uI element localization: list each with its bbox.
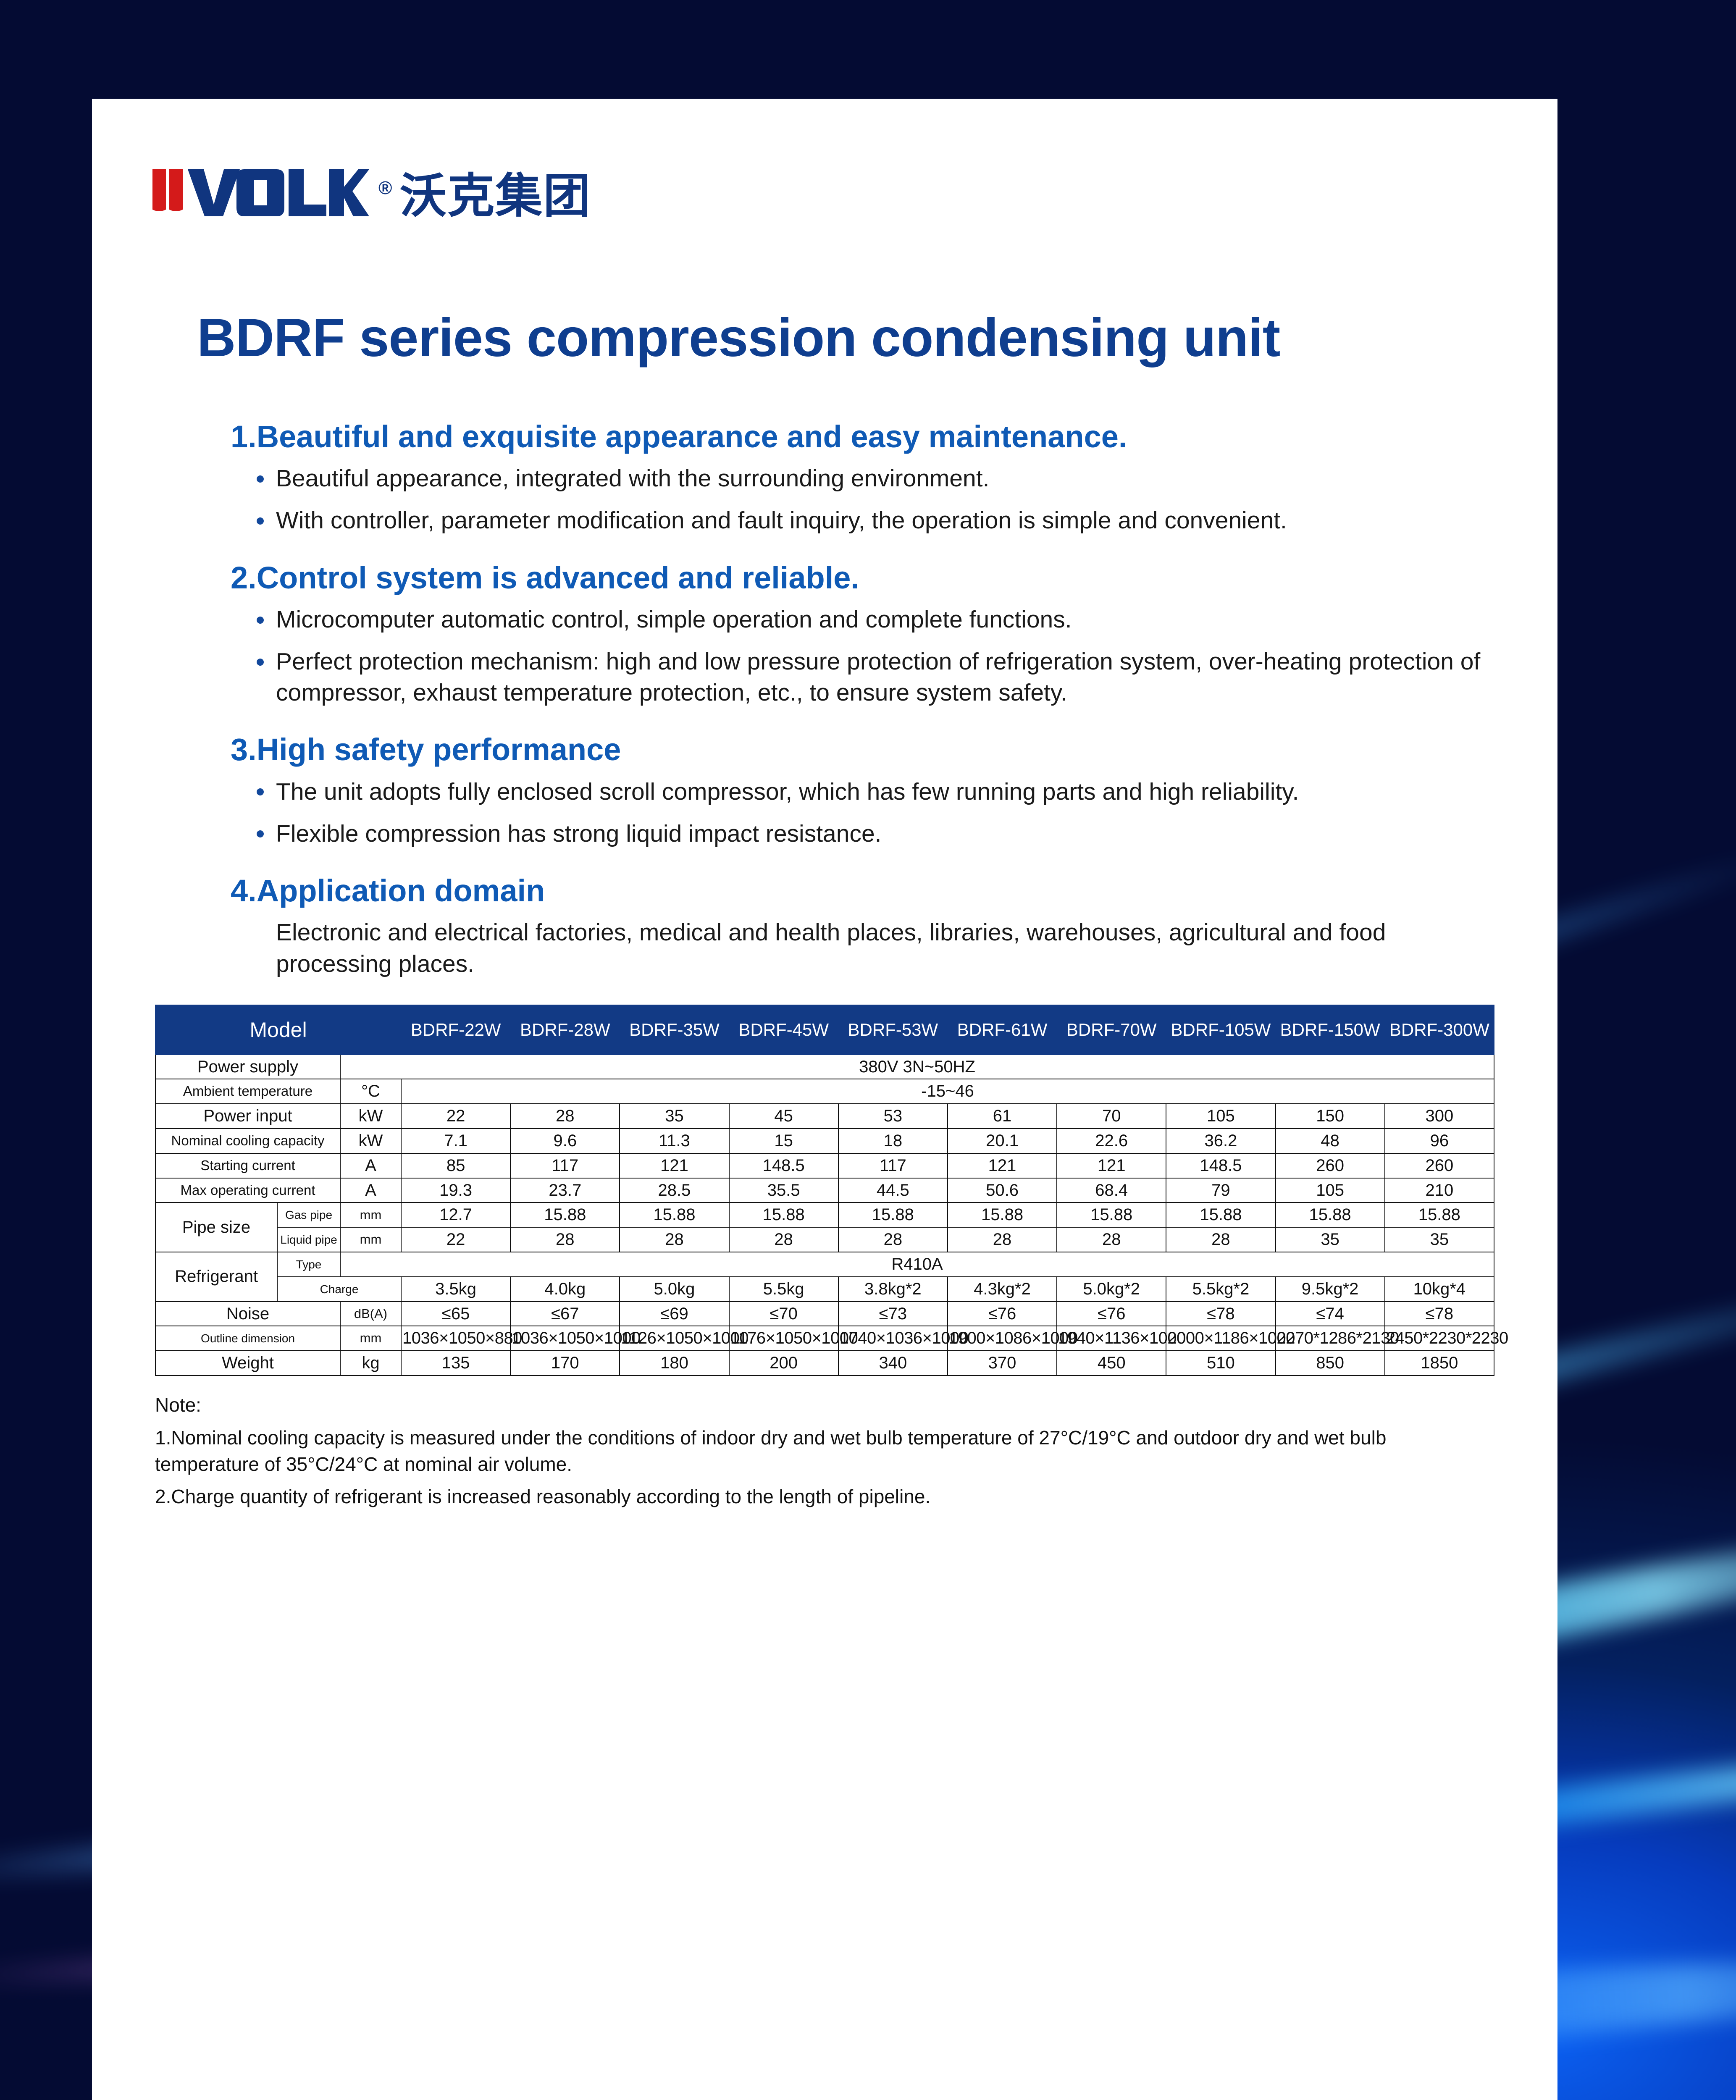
row-label: Max operating current bbox=[155, 1178, 340, 1203]
cell: 210 bbox=[1385, 1178, 1494, 1203]
cell: 48 bbox=[1276, 1129, 1385, 1153]
table-row-outline-dimension: Outline dimension mm 1036×1050×880 1036×… bbox=[155, 1326, 1494, 1351]
note-item: 2.Charge quantity of refrigerant is incr… bbox=[155, 1483, 1494, 1510]
cell: 36.2 bbox=[1166, 1129, 1275, 1153]
row-label: Noise bbox=[155, 1302, 340, 1326]
bullet-text: The unit adopts fully enclosed scroll co… bbox=[276, 778, 1299, 805]
cell: 10kg*4 bbox=[1385, 1277, 1494, 1302]
table-row-refrigerant-charge: Charge 3.5kg 4.0kg 5.0kg 5.5kg 3.8kg*2 4… bbox=[155, 1277, 1494, 1302]
bullet-text: Microcomputer automatic control, simple … bbox=[276, 606, 1072, 633]
row-group-label-refrigerant: Refrigerant bbox=[155, 1252, 277, 1302]
cell: 18 bbox=[838, 1129, 948, 1153]
cell: 28 bbox=[510, 1104, 620, 1129]
cell: 15.88 bbox=[729, 1202, 838, 1227]
section-heading: 3.High safety performance bbox=[231, 732, 1490, 766]
bullet-dot-icon bbox=[257, 475, 264, 483]
cell: 28 bbox=[838, 1227, 948, 1252]
cell: 1940×1136×1000 bbox=[1057, 1326, 1166, 1351]
cell: ≤65 bbox=[401, 1302, 510, 1326]
row-unit: kW bbox=[340, 1104, 401, 1129]
header-model-7: BDRF-105W bbox=[1166, 1005, 1275, 1055]
cell: 15.88 bbox=[510, 1202, 620, 1227]
row-unit: mm bbox=[340, 1202, 401, 1227]
row-unit: mm bbox=[340, 1227, 401, 1252]
page-title: BDRF series compression condensing unit bbox=[92, 311, 1557, 365]
row-label: Ambient temperature bbox=[155, 1079, 340, 1104]
cell: 11.3 bbox=[620, 1129, 729, 1153]
cell: ≤73 bbox=[838, 1302, 948, 1326]
cell: 96 bbox=[1385, 1129, 1494, 1153]
row-label: Type bbox=[277, 1252, 340, 1277]
bullet-text: With controller, parameter modification … bbox=[276, 507, 1287, 534]
bullet-dot-icon bbox=[257, 830, 264, 837]
document-page: ® 沃克集团 BDRF series compression condensin… bbox=[92, 99, 1557, 2100]
cell: 260 bbox=[1385, 1153, 1494, 1178]
table-header-row: Model BDRF-22W BDRF-28W BDRF-35W BDRF-45… bbox=[155, 1005, 1494, 1055]
volks-wordmark-icon bbox=[151, 166, 369, 220]
cell: 117 bbox=[838, 1153, 948, 1178]
cell: 61 bbox=[948, 1104, 1057, 1129]
cell: 22.6 bbox=[1057, 1129, 1166, 1153]
cell: ≤76 bbox=[1057, 1302, 1166, 1326]
cell: 370 bbox=[948, 1351, 1057, 1375]
cell: 5.5kg bbox=[729, 1277, 838, 1302]
cell: 50.6 bbox=[948, 1178, 1057, 1203]
cell: 35.5 bbox=[729, 1178, 838, 1203]
cell: ≤70 bbox=[729, 1302, 838, 1326]
cell: 9.6 bbox=[510, 1129, 620, 1153]
row-value: -15~46 bbox=[401, 1079, 1494, 1104]
section-heading: 2.Control system is advanced and reliabl… bbox=[231, 561, 1490, 595]
cell: 44.5 bbox=[838, 1178, 948, 1203]
section-appearance: 1.Beautiful and exquisite appearance and… bbox=[231, 420, 1490, 536]
table-row-nominal-cooling-capacity: Nominal cooling capacity kW 7.1 9.6 11.3… bbox=[155, 1129, 1494, 1153]
cell: 79 bbox=[1166, 1178, 1275, 1203]
row-unit: °C bbox=[340, 1079, 401, 1104]
cell: 105 bbox=[1276, 1178, 1385, 1203]
cell: 28 bbox=[510, 1227, 620, 1252]
cell: 28 bbox=[1057, 1227, 1166, 1252]
cell: 70 bbox=[1057, 1104, 1166, 1129]
cell: 1900×1086×1000 bbox=[948, 1326, 1057, 1351]
cell: ≤69 bbox=[620, 1302, 729, 1326]
row-label: Weight bbox=[155, 1351, 340, 1375]
header-model-3: BDRF-45W bbox=[729, 1005, 838, 1055]
cell: 4.3kg*2 bbox=[948, 1277, 1057, 1302]
cell: 2450*2230*2230 bbox=[1385, 1326, 1494, 1351]
section-application-domain: 4.Application domain Electronic and elec… bbox=[231, 874, 1490, 980]
row-label: Charge bbox=[277, 1277, 401, 1302]
table-row-refrigerant-type: Refrigerant Type R410A bbox=[155, 1252, 1494, 1277]
cell: 28 bbox=[729, 1227, 838, 1252]
cell: 3.8kg*2 bbox=[838, 1277, 948, 1302]
brand-header: ® 沃克集团 bbox=[92, 99, 1557, 220]
cell: 15.88 bbox=[948, 1202, 1057, 1227]
table-row-max-operating-current: Max operating current A 19.3 23.7 28.5 3… bbox=[155, 1178, 1494, 1203]
bullet-dot-icon bbox=[257, 517, 264, 525]
cell: 23.7 bbox=[510, 1178, 620, 1203]
cell: 3.5kg bbox=[401, 1277, 510, 1302]
cell: 28.5 bbox=[620, 1178, 729, 1203]
section-control-system: 2.Control system is advanced and reliabl… bbox=[231, 561, 1490, 709]
header-model-2: BDRF-35W bbox=[620, 1005, 729, 1055]
table-row-weight: Weight kg 135 170 180 200 340 370 450 51… bbox=[155, 1351, 1494, 1375]
list-item: Flexible compression has strong liquid i… bbox=[257, 818, 1490, 849]
list-item: The unit adopts fully enclosed scroll co… bbox=[257, 776, 1490, 807]
cell: 4.0kg bbox=[510, 1277, 620, 1302]
feature-sections: 1.Beautiful and exquisite appearance and… bbox=[92, 420, 1557, 980]
row-unit: A bbox=[340, 1178, 401, 1203]
cell: 150 bbox=[1276, 1104, 1385, 1129]
cell: 117 bbox=[510, 1153, 620, 1178]
table-row-noise: Noise dB(A) ≤65 ≤67 ≤69 ≤70 ≤73 ≤76 ≤76 … bbox=[155, 1302, 1494, 1326]
row-unit: kg bbox=[340, 1351, 401, 1375]
cell: 85 bbox=[401, 1153, 510, 1178]
cell: 1036×1050×880 bbox=[401, 1326, 510, 1351]
list-item: Beautiful appearance, integrated with th… bbox=[257, 463, 1490, 494]
cell: 15.88 bbox=[1166, 1202, 1275, 1227]
list-item: Microcomputer automatic control, simple … bbox=[257, 604, 1490, 635]
specification-table-wrapper: Model BDRF-22W BDRF-28W BDRF-35W BDRF-45… bbox=[92, 1005, 1557, 1376]
cell: 22 bbox=[401, 1227, 510, 1252]
row-label: Liquid pipe bbox=[277, 1227, 340, 1252]
cell: 22 bbox=[401, 1104, 510, 1129]
cell: 450 bbox=[1057, 1351, 1166, 1375]
cell: 2270*1286*2130 bbox=[1276, 1326, 1385, 1351]
cell: 15.88 bbox=[620, 1202, 729, 1227]
cell: 121 bbox=[1057, 1153, 1166, 1178]
bullet-list: Microcomputer automatic control, simple … bbox=[231, 604, 1490, 708]
row-label: Outline dimension bbox=[155, 1326, 340, 1351]
cell: 15.88 bbox=[1385, 1202, 1494, 1227]
cell: 1126×1050×1000 bbox=[620, 1326, 729, 1351]
cell: 15.88 bbox=[1057, 1202, 1166, 1227]
list-item: With controller, parameter modification … bbox=[257, 505, 1490, 536]
row-unit: A bbox=[340, 1153, 401, 1178]
cell: 5.5kg*2 bbox=[1166, 1277, 1275, 1302]
row-unit: kW bbox=[340, 1129, 401, 1153]
table-row-starting-current: Starting current A 85 117 121 148.5 117 … bbox=[155, 1153, 1494, 1178]
table-row-gas-pipe: Pipe size Gas pipe mm 12.7 15.88 15.88 1… bbox=[155, 1202, 1494, 1227]
row-label: Power supply bbox=[155, 1055, 340, 1079]
notes-block: Note: 1.Nominal cooling capacity is meas… bbox=[92, 1392, 1557, 1510]
header-model-8: BDRF-150W bbox=[1276, 1005, 1385, 1055]
cell: 1740×1036×1000 bbox=[838, 1326, 948, 1351]
bullet-text: Beautiful appearance, integrated with th… bbox=[276, 465, 989, 492]
header-model-9: BDRF-300W bbox=[1385, 1005, 1494, 1055]
row-unit: mm bbox=[340, 1326, 401, 1351]
section-safety: 3.High safety performance The unit adopt… bbox=[231, 732, 1490, 849]
header-model-4: BDRF-53W bbox=[838, 1005, 948, 1055]
cell: 135 bbox=[401, 1351, 510, 1375]
section-heading: 4.Application domain bbox=[231, 874, 1490, 908]
cell: 121 bbox=[620, 1153, 729, 1178]
cell: 53 bbox=[838, 1104, 948, 1129]
row-value: 380V 3N~50HZ bbox=[340, 1055, 1494, 1079]
cell: 15.88 bbox=[1276, 1202, 1385, 1227]
table-row-power-supply: Power supply 380V 3N~50HZ bbox=[155, 1055, 1494, 1079]
cell: ≤76 bbox=[948, 1302, 1057, 1326]
cell: 340 bbox=[838, 1351, 948, 1375]
cell: 300 bbox=[1385, 1104, 1494, 1129]
company-logo: ® 沃克集团 bbox=[151, 166, 1557, 220]
registered-trademark-icon: ® bbox=[378, 178, 392, 199]
logo-chinese-text: 沃克集团 bbox=[399, 173, 591, 220]
bullet-dot-icon bbox=[257, 617, 264, 624]
cell: ≤78 bbox=[1166, 1302, 1275, 1326]
specification-table: Model BDRF-22W BDRF-28W BDRF-35W BDRF-45… bbox=[155, 1005, 1494, 1376]
cell: 45 bbox=[729, 1104, 838, 1129]
cell: 19.3 bbox=[401, 1178, 510, 1203]
notes-title: Note: bbox=[155, 1392, 1494, 1418]
cell: 28 bbox=[620, 1227, 729, 1252]
cell: 1176×1050×1000 bbox=[729, 1326, 838, 1351]
cell: 121 bbox=[948, 1153, 1057, 1178]
header-model-1: BDRF-28W bbox=[510, 1005, 620, 1055]
cell: 5.0kg bbox=[620, 1277, 729, 1302]
bullet-list: The unit adopts fully enclosed scroll co… bbox=[231, 776, 1490, 849]
cell: 1850 bbox=[1385, 1351, 1494, 1375]
cell: 1036×1050×1000 bbox=[510, 1326, 620, 1351]
cell: 260 bbox=[1276, 1153, 1385, 1178]
row-unit: dB(A) bbox=[340, 1302, 401, 1326]
cell: 148.5 bbox=[1166, 1153, 1275, 1178]
cell: 105 bbox=[1166, 1104, 1275, 1129]
cell: 170 bbox=[510, 1351, 620, 1375]
row-label: Starting current bbox=[155, 1153, 340, 1178]
bullet-list: Beautiful appearance, integrated with th… bbox=[231, 463, 1490, 536]
cell: 9.5kg*2 bbox=[1276, 1277, 1385, 1302]
cell: 850 bbox=[1276, 1351, 1385, 1375]
list-item: Perfect protection mechanism: high and l… bbox=[257, 646, 1490, 708]
row-group-label-pipe-size: Pipe size bbox=[155, 1202, 277, 1252]
table-row-power-input: Power input kW 22 28 35 45 53 61 70 105 … bbox=[155, 1104, 1494, 1129]
header-model: Model bbox=[155, 1005, 401, 1055]
cell: ≤67 bbox=[510, 1302, 620, 1326]
bullet-text: Perfect protection mechanism: high and l… bbox=[276, 648, 1480, 706]
cell: 35 bbox=[620, 1104, 729, 1129]
header-model-5: BDRF-61W bbox=[948, 1005, 1057, 1055]
cell: 15 bbox=[729, 1129, 838, 1153]
header-model-6: BDRF-70W bbox=[1057, 1005, 1166, 1055]
cell: 68.4 bbox=[1057, 1178, 1166, 1203]
cell: 2000×1186×1000 bbox=[1166, 1326, 1275, 1351]
cell: 15.88 bbox=[838, 1202, 948, 1227]
table-row-ambient-temperature: Ambient temperature °C -15~46 bbox=[155, 1079, 1494, 1104]
row-label: Power input bbox=[155, 1104, 340, 1129]
bullet-dot-icon bbox=[257, 659, 264, 666]
header-model-0: BDRF-22W bbox=[401, 1005, 510, 1055]
cell: 5.0kg*2 bbox=[1057, 1277, 1166, 1302]
cell: 510 bbox=[1166, 1351, 1275, 1375]
application-domain-text: Electronic and electrical factories, med… bbox=[231, 917, 1490, 980]
bullet-text: Flexible compression has strong liquid i… bbox=[276, 820, 881, 847]
cell: ≤74 bbox=[1276, 1302, 1385, 1326]
row-value: R410A bbox=[340, 1252, 1494, 1277]
cell: 7.1 bbox=[401, 1129, 510, 1153]
table-row-liquid-pipe: Liquid pipe mm 22 28 28 28 28 28 28 28 3… bbox=[155, 1227, 1494, 1252]
cell: 180 bbox=[620, 1351, 729, 1375]
note-item: 1.Nominal cooling capacity is measured u… bbox=[155, 1425, 1494, 1478]
cell: ≤78 bbox=[1385, 1302, 1494, 1326]
cell: 12.7 bbox=[401, 1202, 510, 1227]
row-label: Nominal cooling capacity bbox=[155, 1129, 340, 1153]
cell: 200 bbox=[729, 1351, 838, 1375]
cell: 28 bbox=[948, 1227, 1057, 1252]
cell: 20.1 bbox=[948, 1129, 1057, 1153]
cell: 148.5 bbox=[729, 1153, 838, 1178]
section-heading: 1.Beautiful and exquisite appearance and… bbox=[231, 420, 1490, 454]
cell: 35 bbox=[1385, 1227, 1494, 1252]
row-label: Gas pipe bbox=[277, 1202, 340, 1227]
cell: 28 bbox=[1166, 1227, 1275, 1252]
bullet-dot-icon bbox=[257, 788, 264, 795]
cell: 35 bbox=[1276, 1227, 1385, 1252]
